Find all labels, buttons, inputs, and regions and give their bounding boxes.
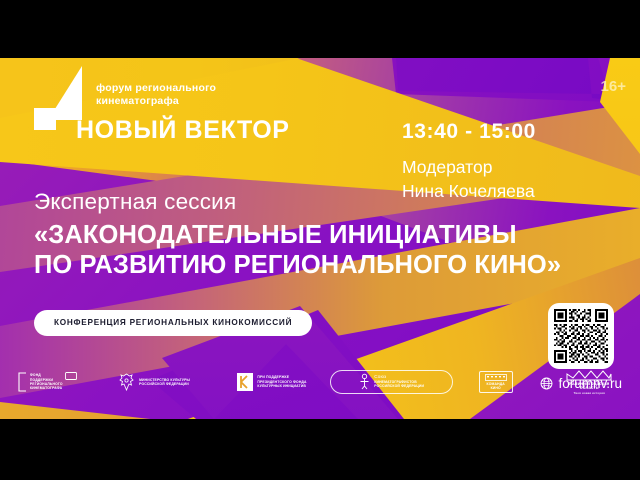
- frk-bracket-icon: [17, 372, 27, 392]
- square-shape: [34, 108, 56, 130]
- headline-line-2: ПО РАЗВИТИЮ РЕГИОНАЛЬНОГО КИНО»: [34, 250, 561, 280]
- logo-subtitle-line-1: форум регионального: [96, 82, 336, 95]
- partner-logo-kaliningrad: Калининградская область Твоя новая истор…: [539, 369, 640, 395]
- partner-logos: ФОНД ПОДДЕРЖКИ РЕГИОНАЛЬНОГО КИНЕМАТОГРА…: [0, 358, 640, 406]
- headline-line-1: «ЗАКОНОДАТЕЛЬНЫЕ ИНИЦИАТИВЫ: [34, 220, 561, 250]
- partner-logo-cinema-team: КОМАНДА КИНО: [453, 371, 539, 394]
- double-headed-eagle-icon: [118, 372, 135, 392]
- partner-union-line-3: РОССИЙСКОЙ ФЕДЕРАЦИИ: [374, 384, 424, 388]
- letterbox-bar-bottom: [0, 419, 640, 480]
- partner-pfki-line-3: КУЛЬТУРНЫХ ИНИЦИАТИВ: [257, 384, 306, 388]
- partner-logo-pfki: ПРИ ПОДДЕРЖКЕ ПРЕЗИДЕНТСКОГО ФОНДА КУЛЬТ…: [215, 372, 330, 392]
- age-rating-badge: 16+: [601, 78, 626, 95]
- partner-kaliningrad-tagline: Твоя новая история: [569, 391, 609, 395]
- forum-logo-name: НОВЫЙ ВЕКТОР: [76, 116, 290, 145]
- qr-code-image: [554, 309, 608, 363]
- conference-badge: КОНФЕРЕНЦИЯ РЕГИОНАЛЬНЫХ КИНОКОМИССИЙ: [34, 310, 312, 336]
- partner-minkult-line-2: РОССИЙСКОЙ ФЕДЕРАЦИИ: [139, 382, 190, 386]
- event-poster: 16+ форум регионального кинематографа НО…: [0, 58, 640, 419]
- forum-logo: форум регионального кинематографа НОВЫЙ …: [34, 66, 86, 136]
- forum-logo-subtitle: форум регионального кинематографа: [96, 82, 336, 107]
- partner-logo-frk: ФОНД ПОДДЕРЖКИ РЕГИОНАЛЬНОГО КИНЕМАТОГРА…: [0, 372, 94, 392]
- frk-badge-icon: [65, 372, 77, 380]
- partner-logo-minkult: МИНИСТЕРСТВО КУЛЬТУРЫ РОССИЙСКОЙ ФЕДЕРАЦ…: [94, 372, 215, 392]
- film-strip-icon: [485, 374, 507, 381]
- union-figure-icon: [358, 373, 371, 391]
- partner-frk-line-4: КИНЕМАТОГРАФА: [30, 386, 63, 390]
- partner-logo-union: Союз КИНЕМАТОГРАФИСТОВ РОССИЙСКОЙ ФЕДЕРА…: [330, 370, 453, 394]
- video-frame: 16+ форум регионального кинематографа НО…: [0, 0, 640, 480]
- session-time: 13:40 - 15:00: [402, 120, 536, 144]
- logo-subtitle-line-2: кинематографа: [96, 95, 336, 108]
- session-headline: Экспертная сессия «ЗАКОНОДАТЕЛЬНЫЕ ИНИЦИ…: [34, 189, 561, 280]
- partner-cinema-line-2: КИНО: [485, 386, 507, 390]
- crown-icon: [565, 369, 613, 381]
- pfki-k-icon: [237, 372, 253, 392]
- moderator-label: Модератор: [402, 155, 536, 179]
- headline-kicker: Экспертная сессия: [34, 189, 561, 215]
- letterbox-bar-top: [0, 0, 640, 58]
